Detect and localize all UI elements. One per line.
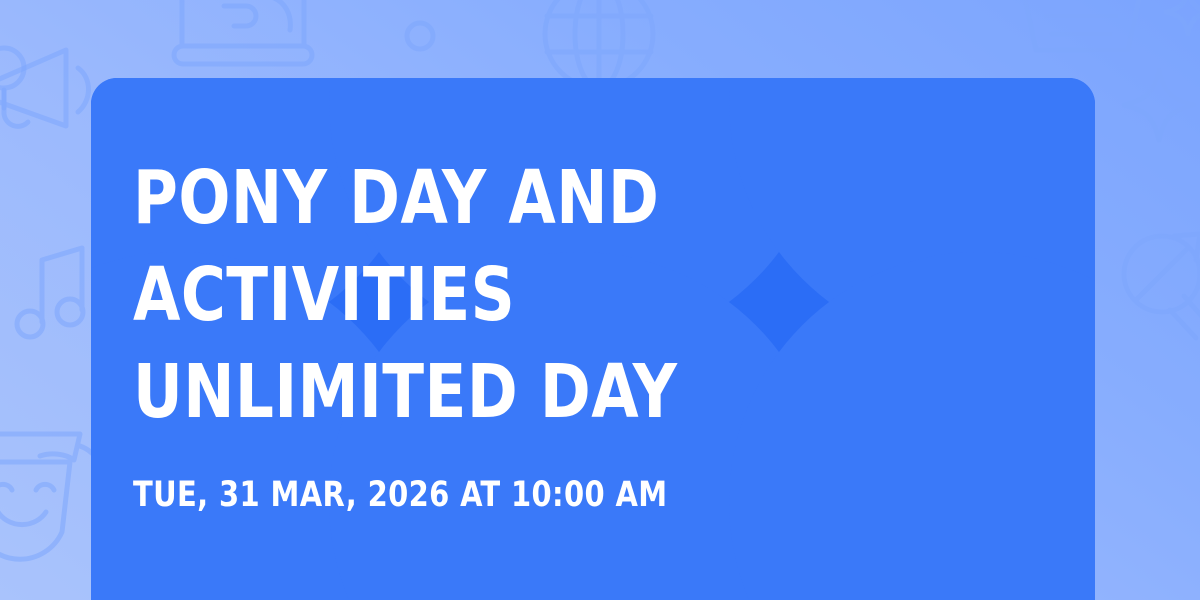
laptop-icon: [168, 0, 318, 86]
sparkle-icon: [1160, 0, 1200, 40]
sparkle-icon: [1114, 60, 1200, 150]
sparkle-icon: [398, 14, 442, 58]
music-note-icon: [6, 240, 96, 350]
event-card: Pony Day and Activities Unlimited Day Tu…: [91, 78, 1095, 600]
balloon-icon: [0, 44, 34, 114]
event-title: Pony Day and Activities Unlimited Day: [133, 150, 981, 441]
event-datetime: Tue, 31 Mar, 2026 at 10:00 AM: [133, 441, 981, 515]
microphone-icon: [1112, 222, 1200, 372]
ticket-icon: [1006, 0, 1156, 90]
megaphone-icon: [0, 28, 104, 148]
event-banner: Pony Day and Activities Unlimited Day Tu…: [0, 0, 1200, 600]
event-details: Pony Day and Activities Unlimited Day Tu…: [133, 150, 1055, 515]
